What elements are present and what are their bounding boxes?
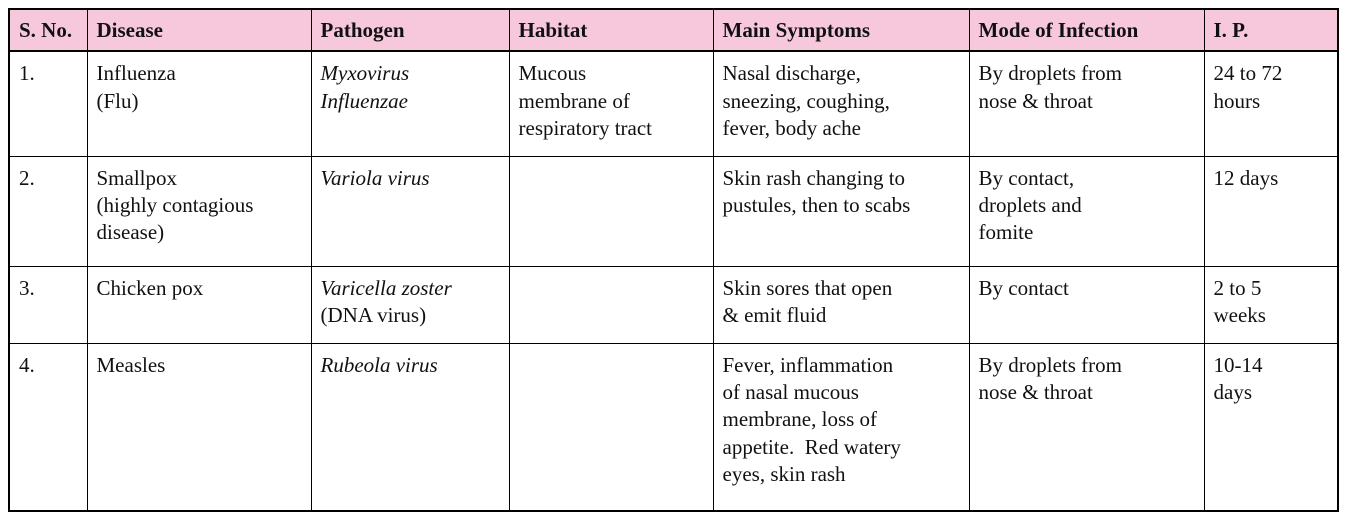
cell-text-line: pustules, then to scabs [723, 192, 960, 219]
table-body: 1. Influenza(Flu) MyxovirusInfluenzae Mu… [9, 51, 1338, 511]
cell-text-line: Smallpox [97, 165, 302, 192]
cell-text-line: Varicella zoster [321, 275, 500, 302]
cell-pathogen: MyxovirusInfluenzae [311, 51, 509, 156]
column-header-mode-of-infection: Mode of Infection [969, 9, 1204, 51]
cell-main-symptoms: Skin rash changing topustules, then to s… [713, 156, 969, 266]
table-row: 4. Measles Rubeola virus Fever, inflamma… [9, 343, 1338, 511]
cell-text-line: days [1214, 379, 1329, 406]
cell-pathogen: Variola virus [311, 156, 509, 266]
cell-disease: Smallpox(highly contagiousdisease) [87, 156, 311, 266]
column-header-serial-number: S. No. [9, 9, 87, 51]
table-row: 3. Chicken pox Varicella zoster(DNA viru… [9, 266, 1338, 343]
cell-incubation-period: 24 to 72hours [1204, 51, 1338, 156]
cell-incubation-period: 10-14days [1204, 343, 1338, 511]
cell-text-line: (Flu) [97, 88, 302, 115]
cell-text-line: Mucous [519, 60, 704, 87]
cell-text-line: Skin rash changing to [723, 165, 960, 192]
cell-text-line: membrane of [519, 88, 704, 115]
cell-text-line: 10-14 [1214, 352, 1329, 379]
cell-main-symptoms: Skin sores that open& emit fluid [713, 266, 969, 343]
cell-text-line: sneezing, coughing, [723, 88, 960, 115]
column-header-habitat: Habitat [509, 9, 713, 51]
cell-text-line: By contact [979, 275, 1195, 302]
viral-diseases-table: S. No. Disease Pathogen Habitat Main Sym… [8, 8, 1339, 512]
cell-text-line: nose & throat [979, 379, 1195, 406]
cell-text-line: appetite. Red watery [723, 434, 960, 461]
cell-text-line: eyes, skin rash [723, 461, 960, 488]
cell-text-line: Fever, inflammation [723, 352, 960, 379]
column-header-incubation-period: I. P. [1204, 9, 1338, 51]
cell-text-line: & emit fluid [723, 302, 960, 329]
cell-main-symptoms: Nasal discharge,sneezing, coughing,fever… [713, 51, 969, 156]
cell-serial-number: 1. [9, 51, 87, 156]
cell-text-line: Influenza [97, 60, 302, 87]
cell-text-line: By droplets from [979, 352, 1195, 379]
column-header-pathogen: Pathogen [311, 9, 509, 51]
cell-text-line: hours [1214, 88, 1329, 115]
table-row: 1. Influenza(Flu) MyxovirusInfluenzae Mu… [9, 51, 1338, 156]
cell-text-line: Rubeola virus [321, 352, 500, 379]
cell-text-line: respiratory tract [519, 115, 704, 142]
cell-text-line: weeks [1214, 302, 1329, 329]
cell-text-line: Variola virus [321, 165, 500, 192]
cell-pathogen: Varicella zoster(DNA virus) [311, 266, 509, 343]
disease-table-container: S. No. Disease Pathogen Habitat Main Sym… [8, 8, 1337, 512]
cell-text-line: membrane, loss of [723, 406, 960, 433]
cell-serial-number: 2. [9, 156, 87, 266]
cell-text-line: (highly contagious [97, 192, 302, 219]
cell-text-line: fomite [979, 219, 1195, 246]
cell-habitat [509, 156, 713, 266]
table-header-row: S. No. Disease Pathogen Habitat Main Sym… [9, 9, 1338, 51]
cell-habitat: Mucousmembrane ofrespiratory tract [509, 51, 713, 156]
cell-text-line: Chicken pox [97, 275, 302, 302]
cell-text-line: Nasal discharge, [723, 60, 960, 87]
cell-text-line: Skin sores that open [723, 275, 960, 302]
cell-disease: Chicken pox [87, 266, 311, 343]
cell-text-line: droplets and [979, 192, 1195, 219]
cell-pathogen: Rubeola virus [311, 343, 509, 511]
cell-text-line: nose & throat [979, 88, 1195, 115]
cell-text-line: 2 to 5 [1214, 275, 1329, 302]
cell-incubation-period: 2 to 5weeks [1204, 266, 1338, 343]
cell-text-line: of nasal mucous [723, 379, 960, 406]
cell-serial-number: 3. [9, 266, 87, 343]
cell-text-line: fever, body ache [723, 115, 960, 142]
cell-text-line: Measles [97, 352, 302, 379]
cell-habitat [509, 343, 713, 511]
cell-mode-of-infection: By contact,droplets andfomite [969, 156, 1204, 266]
cell-main-symptoms: Fever, inflammationof nasal mucousmembra… [713, 343, 969, 511]
cell-text-line: 12 days [1214, 165, 1329, 192]
table-row: 2. Smallpox(highly contagiousdisease) Va… [9, 156, 1338, 266]
cell-mode-of-infection: By droplets fromnose & throat [969, 51, 1204, 156]
cell-mode-of-infection: By contact [969, 266, 1204, 343]
cell-disease: Measles [87, 343, 311, 511]
cell-text-line: By droplets from [979, 60, 1195, 87]
cell-serial-number: 4. [9, 343, 87, 511]
cell-mode-of-infection: By droplets fromnose & throat [969, 343, 1204, 511]
cell-text-line: Myxovirus [321, 60, 500, 87]
cell-text-line: Influenzae [321, 88, 500, 115]
column-header-main-symptoms: Main Symptoms [713, 9, 969, 51]
cell-text-line: disease) [97, 219, 302, 246]
cell-text-line: 24 to 72 [1214, 60, 1329, 87]
cell-incubation-period: 12 days [1204, 156, 1338, 266]
cell-disease: Influenza(Flu) [87, 51, 311, 156]
cell-habitat [509, 266, 713, 343]
cell-text-line: (DNA virus) [321, 302, 500, 329]
cell-text-line: By contact, [979, 165, 1195, 192]
column-header-disease: Disease [87, 9, 311, 51]
